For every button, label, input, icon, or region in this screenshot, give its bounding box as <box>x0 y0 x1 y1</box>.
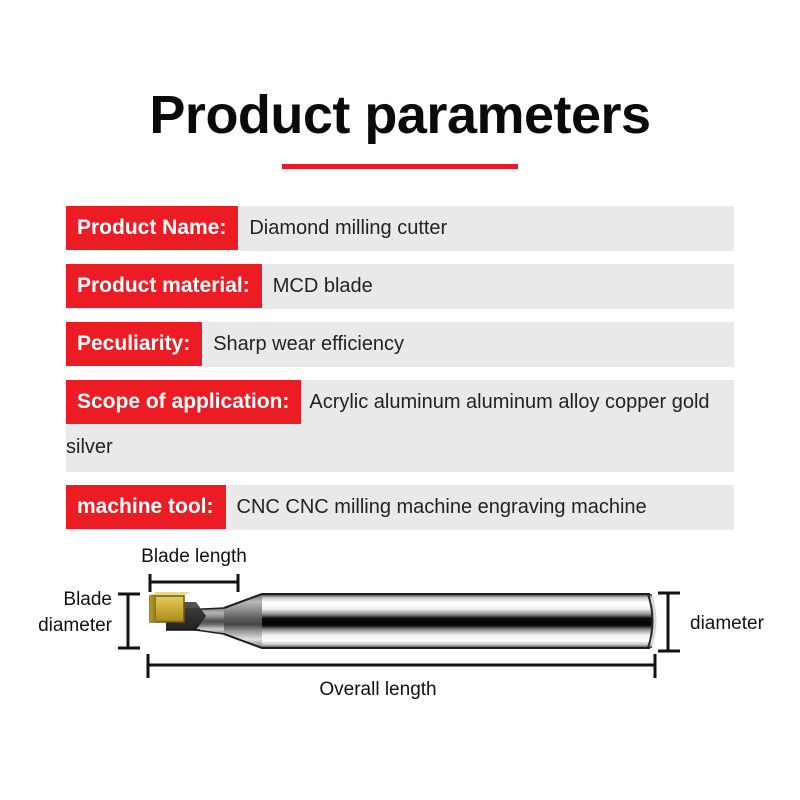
tool-taper <box>224 594 262 648</box>
tool-shank <box>262 594 657 648</box>
diameter-label: diameter <box>690 613 765 634</box>
title-underline-rule <box>282 164 518 169</box>
blade-diameter-label-line1: Blade <box>63 589 112 610</box>
spec-label-product-material: Product material: <box>66 264 262 308</box>
spec-value-peculiarity: Sharp wear efficiency <box>202 333 404 355</box>
spec-row-scope-of-application: Scope of application:Acrylic aluminum al… <box>66 380 734 472</box>
blade-length-dimension: Blade length <box>141 546 247 592</box>
overall-length-dimension: Overall length <box>148 654 655 700</box>
spec-list: Product Name:Diamond milling cutter Prod… <box>66 206 734 543</box>
spec-value-machine-tool: CNC CNC milling machine engraving machin… <box>226 496 647 518</box>
spec-row-product-material: Product material:MCD blade <box>66 264 734 309</box>
spec-row-machine-tool: machine tool:CNC CNC milling machine eng… <box>66 485 734 530</box>
overall-length-label: Overall length <box>319 679 436 700</box>
blade-diameter-dimension: Blade diameter <box>38 589 140 648</box>
page-title: Product parameters <box>0 88 800 142</box>
spec-value-product-material: MCD blade <box>262 275 373 297</box>
spec-value-product-name: Diamond milling cutter <box>238 217 447 239</box>
diameter-dimension: diameter <box>658 593 765 651</box>
blade-diameter-label-line2: diameter <box>38 615 113 636</box>
spec-label-machine-tool: machine tool: <box>66 485 226 529</box>
mcd-insert <box>150 592 190 622</box>
title-block: Product parameters <box>0 88 800 169</box>
spec-label-peculiarity: Peculiarity: <box>66 322 202 366</box>
blade-length-label: Blade length <box>141 546 247 567</box>
milling-cutter-illustration <box>150 592 657 648</box>
spec-label-scope-of-application: Scope of application: <box>66 380 301 424</box>
tool-dimension-diagram: Blade length Blade diameter <box>0 536 800 716</box>
spec-row-product-name: Product Name:Diamond milling cutter <box>66 206 734 251</box>
spec-row-peculiarity: Peculiarity:Sharp wear efficiency <box>66 322 734 367</box>
spec-label-product-name: Product Name: <box>66 206 238 250</box>
